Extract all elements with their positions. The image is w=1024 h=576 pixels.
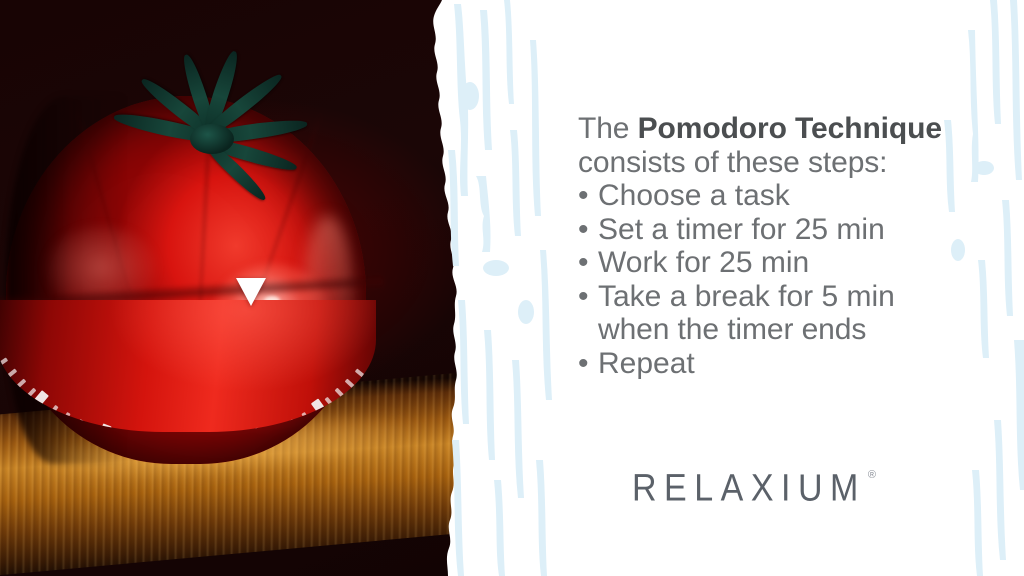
slide-canvas: 3530252015 [0, 0, 1024, 576]
relaxium-logo: RELAXIUM ® [632, 466, 972, 512]
dial-tick-minor [0, 357, 8, 369]
bullet-icon: • [578, 347, 598, 381]
step-item-3: • Work for 25 min [578, 246, 998, 280]
bullet-icon: • [578, 280, 598, 314]
step-label: Repeat [598, 347, 695, 381]
step-label: Set a timer for 25 min [598, 213, 885, 247]
step-item-1: • Choose a task [578, 179, 998, 213]
heading-prefix: The [578, 112, 638, 145]
heading-strong: Pomodoro Technique [638, 112, 942, 145]
step-label: Take a break for 5 min [598, 280, 895, 314]
step-item-4-continuation: when the timer ends [578, 313, 998, 347]
step-item-5: • Repeat [578, 347, 998, 381]
heading-line-1: The Pomodoro Technique [578, 112, 998, 146]
step-label: Choose a task [598, 179, 790, 213]
paint-texture-left [440, 0, 560, 576]
tomato-stem-calyx [98, 78, 328, 188]
heading-line-2: consists of these steps: [578, 146, 998, 180]
step-item-4: • Take a break for 5 min [578, 280, 998, 314]
bullet-icon: • [578, 213, 598, 247]
logo-wordmark: RELAXIUM [632, 466, 866, 511]
dial-tick-minor [355, 369, 369, 382]
bullet-icon: • [578, 179, 598, 213]
dial-pointer-icon [236, 278, 266, 306]
stem-center-knob [190, 124, 234, 154]
content-column: The Pomodoro Technique consists of these… [578, 0, 1024, 576]
step-item-2: • Set a timer for 25 min [578, 213, 998, 247]
step-label: Work for 25 min [598, 246, 809, 280]
pomodoro-copy-block: The Pomodoro Technique consists of these… [578, 112, 998, 380]
registered-trademark-icon: ® [868, 468, 876, 482]
bullet-icon: • [578, 246, 598, 280]
tomato-timer-photo: 3530252015 [0, 0, 478, 576]
